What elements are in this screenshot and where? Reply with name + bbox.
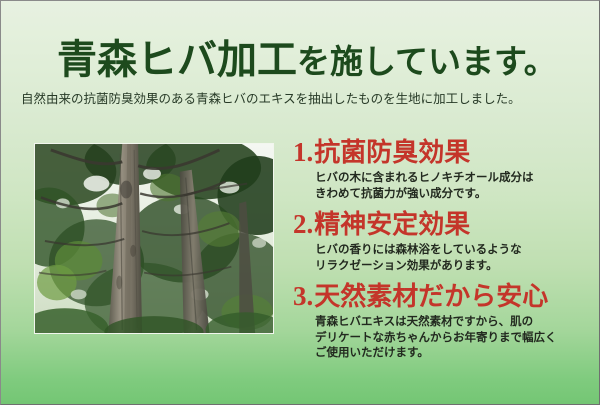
benefit-list: 1. 抗菌防臭効果 ヒバの木に含まれるヒノキチオール成分は きわめて抗菌力が強い… xyxy=(293,137,589,362)
benefit-body-1-line-2: きわめて抗菌力が強い成分です。 xyxy=(315,187,589,203)
benefit-item-2: 2. 精神安定効果 ヒバの香りには森林浴をしているような リラクゼーション効果が… xyxy=(293,209,589,274)
page-title-main: 青森ヒバ加工 xyxy=(57,37,297,82)
benefit-body-2-line-1: ヒバの香りには森林浴をしているような xyxy=(315,243,589,259)
benefit-item-3: 3. 天然素材だから安心 青森ヒバエキスは天然素材ですから、肌の デリケートな赤… xyxy=(293,281,589,362)
benefit-item-1: 1. 抗菌防臭効果 ヒバの木に含まれるヒノキチオール成分は きわめて抗菌力が強い… xyxy=(293,137,589,202)
benefit-body-3-line-2: デリケートな赤ちゃんからお年寄りまで幅広く xyxy=(315,331,589,347)
benefit-title-2: 精神安定効果 xyxy=(314,209,470,240)
poster-root: 青森ヒバ加工を施しています。 自然由来の抗菌防臭効果のある青森ヒバのエキスを抽出… xyxy=(0,0,600,405)
benefit-heading-2: 2. 精神安定効果 xyxy=(293,209,589,240)
benefit-title-3: 天然素材だから安心 xyxy=(314,281,548,312)
page-title-tail: を施しています。 xyxy=(297,45,557,81)
benefit-body-1: ヒバの木に含まれるヒノキチオール成分は きわめて抗菌力が強い成分です。 xyxy=(315,171,589,202)
forest-photo-illustration xyxy=(35,144,273,333)
hiba-forest-photo xyxy=(34,143,274,334)
page-title: 青森ヒバ加工を施しています。 xyxy=(57,37,557,86)
benefit-number-2: 2. xyxy=(293,209,313,240)
benefit-body-2-line-2: リラクゼーション効果があります。 xyxy=(315,259,589,275)
benefit-body-3: 青森ヒバエキスは天然素材ですから、肌の デリケートな赤ちゃんからお年寄りまで幅広… xyxy=(315,315,589,362)
benefit-body-1-line-1: ヒバの木に含まれるヒノキチオール成分は xyxy=(315,171,589,187)
page-subtitle: 自然由来の抗菌防臭効果のある青森ヒバのエキスを抽出したものを生地に加工しました。 xyxy=(21,91,521,108)
benefit-body-3-line-3: ご使用いただけます。 xyxy=(315,346,589,362)
benefit-heading-1: 1. 抗菌防臭効果 xyxy=(293,137,589,168)
benefit-number-1: 1. xyxy=(293,137,313,168)
benefit-title-1: 抗菌防臭効果 xyxy=(314,137,470,168)
benefit-number-3: 3. xyxy=(293,281,313,312)
benefit-body-3-line-1: 青森ヒバエキスは天然素材ですから、肌の xyxy=(315,315,589,331)
benefit-heading-3: 3. 天然素材だから安心 xyxy=(293,281,589,312)
benefit-body-2: ヒバの香りには森林浴をしているような リラクゼーション効果があります。 xyxy=(315,243,589,274)
